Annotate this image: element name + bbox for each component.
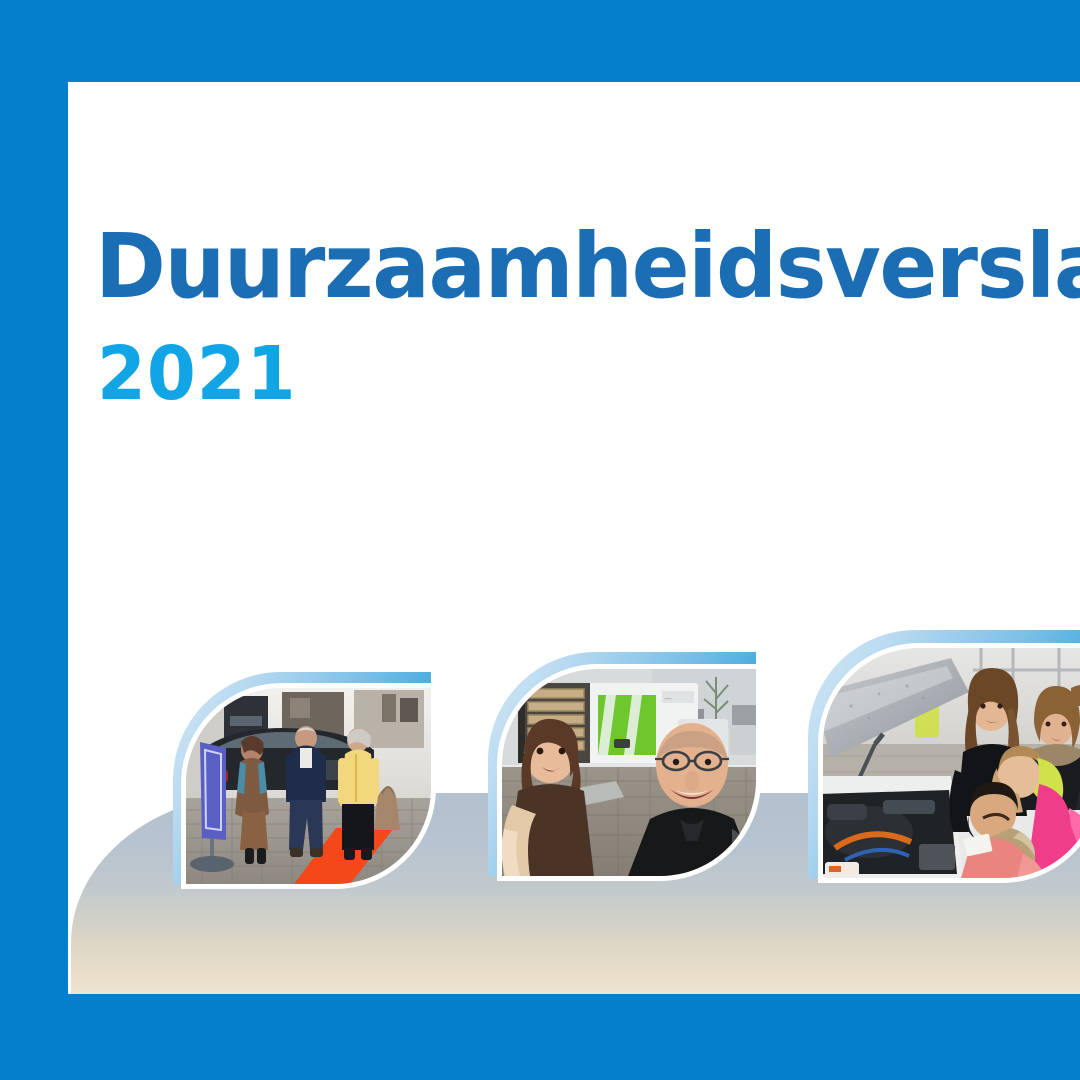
svg-text:—: — (664, 694, 672, 703)
photo-elderly-couple-red-carpet-icon (186, 688, 431, 884)
title-block: Duurzaamheidsverslag 2021 (95, 222, 1035, 411)
photo-frame (186, 688, 431, 884)
photo-children-car-engine-icon (823, 648, 1080, 878)
page-year: 2021 (97, 337, 988, 411)
photo-frame: — (502, 669, 756, 876)
photo-frame (823, 648, 1080, 878)
photo-selfie-delivery-truck-icon: — (502, 669, 756, 876)
photo-card-elderly-couple (173, 672, 431, 884)
photo-card-children-car-engine (808, 630, 1080, 878)
photo-card-selfie-truck: — (488, 652, 756, 876)
page-title: Duurzaamheidsverslag (95, 222, 997, 311)
report-cover-page: Duurzaamheidsverslag 2021 (0, 0, 1080, 1080)
cover-content-panel: Duurzaamheidsverslag 2021 (68, 82, 1080, 994)
